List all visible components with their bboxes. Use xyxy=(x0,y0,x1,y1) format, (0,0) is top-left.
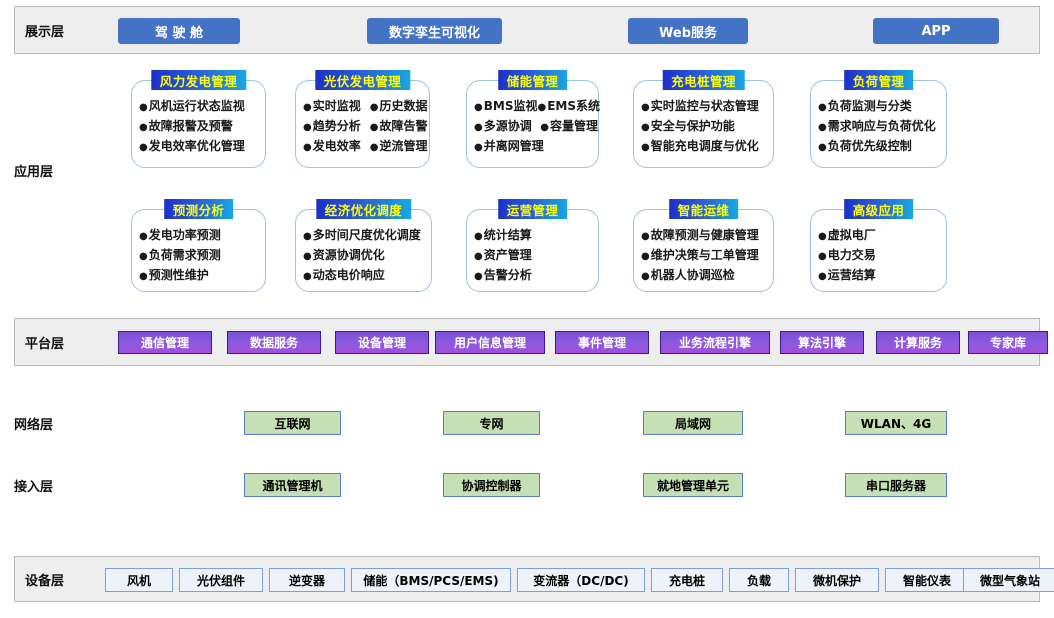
application-card-row: ●负荷需求预测 xyxy=(139,246,265,266)
bullet-item: ●资产管理 xyxy=(474,246,532,266)
application-card-6[interactable]: 预测分析●发电功率预测●负荷需求预测●预测性维护 xyxy=(131,209,266,292)
application-card-title: 高级应用 xyxy=(844,199,914,219)
bullet-label: 统计结算 xyxy=(484,226,532,245)
application-card-body: ●BMS监视●EMS系统●多源协调●容量管理●并离网管理 xyxy=(467,81,598,157)
bullet-label: 机器人协调巡检 xyxy=(651,266,735,285)
bullet-item: ●多源协调 xyxy=(474,117,532,137)
application-card-title: 预测分析 xyxy=(164,199,234,219)
device-button-9[interactable]: 智能仪表 xyxy=(885,568,969,592)
application-card-row: ●统计结算 xyxy=(474,226,598,246)
platform-button-7[interactable]: 算法引擎 xyxy=(780,331,864,354)
bullet-dot-icon: ● xyxy=(370,118,379,137)
bullet-item: ●维护决策与工单管理 xyxy=(641,246,759,266)
bullet-dot-icon: ● xyxy=(641,138,650,157)
application-card-row: ●负荷监测与分类 xyxy=(818,97,946,117)
bullet-spacer xyxy=(532,117,541,137)
application-card-2[interactable]: 光伏发电管理●实时监视●历史数据●趋势分析●故障告警●发电效率●逆流管理 xyxy=(295,80,430,168)
application-card-row: ●运营结算 xyxy=(818,266,946,286)
bullet-spacer xyxy=(361,137,370,157)
application-card-body: ●风机运行状态监视●故障报警及预警●发电效率优化管理 xyxy=(132,81,265,157)
bullet-dot-icon: ● xyxy=(641,247,650,266)
platform-button-5[interactable]: 事件管理 xyxy=(555,331,649,354)
application-card-row: ●实时监视●历史数据 xyxy=(303,97,429,117)
bullet-label: 告警分析 xyxy=(484,266,532,285)
bullet-item: ●预测性维护 xyxy=(139,266,209,286)
bullet-item: ●逆流管理 xyxy=(370,137,428,157)
access-button-2[interactable]: 协调控制器 xyxy=(443,473,540,497)
platform-button-4[interactable]: 用户信息管理 xyxy=(435,331,545,354)
network-layer-label: 网络层 xyxy=(14,414,53,433)
bullet-label: 安全与保护功能 xyxy=(651,117,735,136)
platform-layer-label: 平台层 xyxy=(25,333,64,352)
application-card-row: ●发电效率优化管理 xyxy=(139,137,265,157)
bullet-item: ●运营结算 xyxy=(818,266,876,286)
device-layer-band: 设备层 风机光伏组件逆变器储能（BMS/PCS/EMS)变流器（DC/DC)充电… xyxy=(14,556,1040,602)
bullet-item: ●需求响应与负荷优化 xyxy=(818,117,936,137)
bullet-dot-icon: ● xyxy=(303,98,312,117)
network-button-4[interactable]: WLAN、4G xyxy=(845,411,947,435)
platform-button-6[interactable]: 业务流程引擎 xyxy=(660,331,770,354)
bullet-item: ●实时监视 xyxy=(303,97,361,117)
bullet-dot-icon: ● xyxy=(537,98,546,117)
application-card-body: ●统计结算●资产管理●告警分析 xyxy=(467,210,598,286)
application-card-1[interactable]: 风力发电管理●风机运行状态监视●故障报警及预警●发电效率优化管理 xyxy=(131,80,266,168)
presentation-layer-label: 展示层 xyxy=(25,21,64,40)
presentation-button-3[interactable]: Web服务 xyxy=(628,18,748,44)
application-card-body: ●虚拟电厂●电力交易●运营结算 xyxy=(811,210,946,286)
bullet-label: 运营结算 xyxy=(828,266,876,285)
bullet-item: ●故障预测与健康管理 xyxy=(641,226,759,246)
bullet-item: ●EMS系统 xyxy=(537,97,600,117)
bullet-label: 虚拟电厂 xyxy=(828,226,876,245)
bullet-label: 智能充电调度与优化 xyxy=(651,137,759,156)
access-button-4[interactable]: 串口服务器 xyxy=(845,473,947,497)
access-layer-label: 接入层 xyxy=(14,476,53,495)
presentation-button-1[interactable]: 驾 驶 舱 xyxy=(118,18,240,44)
bullet-item: ●故障报警及预警 xyxy=(139,117,233,137)
bullet-label: 发电效率 xyxy=(313,137,361,156)
application-card-row: ●风机运行状态监视 xyxy=(139,97,265,117)
application-card-title: 光伏发电管理 xyxy=(315,70,410,90)
bullet-item: ●电力交易 xyxy=(818,246,876,266)
device-button-1[interactable]: 风机 xyxy=(105,568,173,592)
bullet-item: ●发电效率优化管理 xyxy=(139,137,245,157)
bullet-label: 并离网管理 xyxy=(484,137,544,156)
application-card-row: ●实时监控与状态管理 xyxy=(641,97,773,117)
bullet-dot-icon: ● xyxy=(139,267,148,286)
presentation-button-4[interactable]: APP xyxy=(873,18,999,44)
bullet-label: 负荷监测与分类 xyxy=(828,97,912,116)
application-card-title: 储能管理 xyxy=(498,70,568,90)
application-card-body: ●故障预测与健康管理●维护决策与工单管理●机器人协调巡检 xyxy=(634,210,773,286)
application-card-row: ●多源协调●容量管理 xyxy=(474,117,598,137)
application-card-row: ●故障报警及预警 xyxy=(139,117,265,137)
application-card-7[interactable]: 经济优化调度●多时间尺度优化调度●资源协调优化●动态电价响应 xyxy=(295,209,432,292)
device-button-3[interactable]: 逆变器 xyxy=(269,568,345,592)
bullet-dot-icon: ● xyxy=(818,98,827,117)
application-card-title: 经济优化调度 xyxy=(316,199,411,219)
device-button-7[interactable]: 负载 xyxy=(729,568,789,592)
bullet-dot-icon: ● xyxy=(139,247,148,266)
bullet-label: 负荷优先级控制 xyxy=(828,137,912,156)
bullet-item: ●机器人协调巡检 xyxy=(641,266,735,286)
application-card-title: 负荷管理 xyxy=(844,70,914,90)
bullet-item: ●风机运行状态监视 xyxy=(139,97,245,117)
bullet-dot-icon: ● xyxy=(641,98,650,117)
bullet-dot-icon: ● xyxy=(370,98,379,117)
application-card-row: ●发电效率●逆流管理 xyxy=(303,137,429,157)
bullet-dot-icon: ● xyxy=(474,118,483,137)
bullet-label: 资产管理 xyxy=(484,246,532,265)
bullet-label: 趋势分析 xyxy=(313,117,361,136)
application-card-body: ●实时监视●历史数据●趋势分析●故障告警●发电效率●逆流管理 xyxy=(296,81,429,157)
bullet-label: BMS监视 xyxy=(484,97,538,116)
device-button-4[interactable]: 储能（BMS/PCS/EMS) xyxy=(351,568,511,592)
bullet-dot-icon: ● xyxy=(303,227,312,246)
bullet-dot-icon: ● xyxy=(139,98,148,117)
platform-button-3[interactable]: 设备管理 xyxy=(335,331,429,354)
bullet-item: ●统计结算 xyxy=(474,226,532,246)
bullet-label: 实时监控与状态管理 xyxy=(651,97,759,116)
bullet-label: 容量管理 xyxy=(550,117,598,136)
application-card-row: ●智能充电调度与优化 xyxy=(641,137,773,157)
bullet-item: ●虚拟电厂 xyxy=(818,226,876,246)
platform-layer-band: 平台层 通信管理数据服务设备管理用户信息管理事件管理业务流程引擎算法引擎计算服务… xyxy=(14,318,1040,366)
bullet-label: 故障报警及预警 xyxy=(149,117,233,136)
platform-button-8[interactable]: 计算服务 xyxy=(876,331,960,354)
bullet-dot-icon: ● xyxy=(818,227,827,246)
bullet-spacer xyxy=(361,117,370,137)
bullet-item: ●实时监控与状态管理 xyxy=(641,97,759,117)
application-card-title: 运营管理 xyxy=(498,199,568,219)
application-card-body: ●负荷监测与分类●需求响应与负荷优化●负荷优先级控制 xyxy=(811,81,946,157)
bullet-dot-icon: ● xyxy=(641,118,650,137)
bullet-dot-icon: ● xyxy=(540,118,549,137)
application-card-10[interactable]: 高级应用●虚拟电厂●电力交易●运营结算 xyxy=(810,209,947,292)
bullet-item: ●告警分析 xyxy=(474,266,532,286)
application-card-row: ●多时间尺度优化调度 xyxy=(303,226,431,246)
application-card-row: ●安全与保护功能 xyxy=(641,117,773,137)
platform-button-9[interactable]: 专家库 xyxy=(968,331,1048,354)
bullet-label: 资源协调优化 xyxy=(313,246,385,265)
bullet-item: ●历史数据 xyxy=(370,97,428,117)
application-card-row: ●资产管理 xyxy=(474,246,598,266)
access-button-3[interactable]: 就地管理单元 xyxy=(643,473,743,497)
application-card-row: ●并离网管理 xyxy=(474,137,598,157)
application-card-3[interactable]: 储能管理●BMS监视●EMS系统●多源协调●容量管理●并离网管理 xyxy=(466,80,599,168)
application-card-row: ●资源协调优化 xyxy=(303,246,431,266)
bullet-dot-icon: ● xyxy=(303,138,312,157)
application-card-row: ●动态电价响应 xyxy=(303,266,431,286)
bullet-label: 风机运行状态监视 xyxy=(149,97,245,116)
application-card-8[interactable]: 运营管理●统计结算●资产管理●告警分析 xyxy=(466,209,599,292)
bullet-item: ●BMS监视 xyxy=(474,97,537,117)
application-card-row: ●机器人协调巡检 xyxy=(641,266,773,286)
bullet-dot-icon: ● xyxy=(474,227,483,246)
bullet-label: 故障告警 xyxy=(379,117,427,136)
bullet-dot-icon: ● xyxy=(474,98,483,117)
access-button-1[interactable]: 通讯管理机 xyxy=(244,473,341,497)
bullet-item: ●负荷需求预测 xyxy=(139,246,221,266)
bullet-dot-icon: ● xyxy=(370,138,379,157)
application-card-title: 充电桩管理 xyxy=(662,70,745,90)
application-layer-label: 应用层 xyxy=(14,161,53,180)
bullet-label: 逆流管理 xyxy=(379,137,427,156)
application-card-row: ●发电功率预测 xyxy=(139,226,265,246)
bullet-label: 多时间尺度优化调度 xyxy=(313,226,421,245)
bullet-item: ●负荷优先级控制 xyxy=(818,137,912,157)
bullet-label: 故障预测与健康管理 xyxy=(651,226,759,245)
bullet-label: 实时监视 xyxy=(313,97,361,116)
presentation-layer-band: 展示层 驾 驶 舱数字孪生可视化Web服务APP xyxy=(14,6,1040,54)
device-button-5[interactable]: 变流器（DC/DC) xyxy=(517,568,645,592)
presentation-button-2[interactable]: 数字孪生可视化 xyxy=(367,18,502,44)
platform-button-1[interactable]: 通信管理 xyxy=(118,331,212,354)
bullet-dot-icon: ● xyxy=(139,138,148,157)
bullet-item: ●动态电价响应 xyxy=(303,266,385,286)
network-button-3[interactable]: 局域网 xyxy=(643,411,743,435)
bullet-dot-icon: ● xyxy=(474,138,483,157)
application-card-title: 风力发电管理 xyxy=(151,70,246,90)
bullet-dot-icon: ● xyxy=(641,227,650,246)
device-button-6[interactable]: 充电桩 xyxy=(651,568,723,592)
device-button-10[interactable]: 微型气象站 xyxy=(963,568,1054,592)
application-card-row: ●虚拟电厂 xyxy=(818,226,946,246)
application-card-9[interactable]: 智能运维●故障预测与健康管理●维护决策与工单管理●机器人协调巡检 xyxy=(633,209,774,292)
application-card-row: ●电力交易 xyxy=(818,246,946,266)
bullet-item: ●负荷监测与分类 xyxy=(818,97,912,117)
application-card-body: ●多时间尺度优化调度●资源协调优化●动态电价响应 xyxy=(296,210,431,286)
network-button-1[interactable]: 互联网 xyxy=(244,411,341,435)
bullet-label: 电力交易 xyxy=(828,246,876,265)
application-card-title: 智能运维 xyxy=(669,199,739,219)
application-card-row: ●告警分析 xyxy=(474,266,598,286)
bullet-item: ●发电功率预测 xyxy=(139,226,221,246)
bullet-dot-icon: ● xyxy=(303,118,312,137)
bullet-label: 需求响应与负荷优化 xyxy=(828,117,936,136)
device-button-8[interactable]: 微机保护 xyxy=(795,568,879,592)
application-card-5[interactable]: 负荷管理●负荷监测与分类●需求响应与负荷优化●负荷优先级控制 xyxy=(810,80,947,168)
bullet-spacer xyxy=(361,97,370,117)
bullet-label: 维护决策与工单管理 xyxy=(651,246,759,265)
bullet-dot-icon: ● xyxy=(303,267,312,286)
bullet-dot-icon: ● xyxy=(474,247,483,266)
bullet-dot-icon: ● xyxy=(474,267,483,286)
application-card-4[interactable]: 充电桩管理●实时监控与状态管理●安全与保护功能●智能充电调度与优化 xyxy=(633,80,774,168)
application-card-row: ●维护决策与工单管理 xyxy=(641,246,773,266)
bullet-dot-icon: ● xyxy=(818,138,827,157)
bullet-dot-icon: ● xyxy=(139,227,148,246)
bullet-item: ●安全与保护功能 xyxy=(641,117,735,137)
bullet-label: EMS系统 xyxy=(547,97,600,116)
bullet-dot-icon: ● xyxy=(818,267,827,286)
bullet-item: ●发电效率 xyxy=(303,137,361,157)
bullet-dot-icon: ● xyxy=(641,267,650,286)
bullet-item: ●智能充电调度与优化 xyxy=(641,137,759,157)
bullet-label: 发电效率优化管理 xyxy=(149,137,245,156)
network-button-2[interactable]: 专网 xyxy=(443,411,540,435)
bullet-dot-icon: ● xyxy=(139,118,148,137)
bullet-dot-icon: ● xyxy=(303,247,312,266)
bullet-label: 历史数据 xyxy=(379,97,427,116)
application-card-row: ●需求响应与负荷优化 xyxy=(818,117,946,137)
bullet-item: ●资源协调优化 xyxy=(303,246,385,266)
bullet-label: 发电功率预测 xyxy=(149,226,221,245)
bullet-label: 动态电价响应 xyxy=(313,266,385,285)
application-card-row: ●BMS监视●EMS系统 xyxy=(474,97,598,117)
platform-button-2[interactable]: 数据服务 xyxy=(227,331,321,354)
device-layer-label: 设备层 xyxy=(25,570,64,589)
bullet-label: 预测性维护 xyxy=(149,266,209,285)
application-card-body: ●实时监控与状态管理●安全与保护功能●智能充电调度与优化 xyxy=(634,81,773,157)
bullet-item: ●并离网管理 xyxy=(474,137,544,157)
application-card-row: ●预测性维护 xyxy=(139,266,265,286)
application-card-row: ●故障预测与健康管理 xyxy=(641,226,773,246)
bullet-dot-icon: ● xyxy=(818,247,827,266)
bullet-item: ●故障告警 xyxy=(370,117,428,137)
device-button-2[interactable]: 光伏组件 xyxy=(179,568,263,592)
bullet-label: 负荷需求预测 xyxy=(149,246,221,265)
application-card-row: ●趋势分析●故障告警 xyxy=(303,117,429,137)
bullet-label: 多源协调 xyxy=(484,117,532,136)
application-card-body: ●发电功率预测●负荷需求预测●预测性维护 xyxy=(132,210,265,286)
bullet-dot-icon: ● xyxy=(818,118,827,137)
architecture-diagram: 展示层 驾 驶 舱数字孪生可视化Web服务APP 应用层 平台层 通信管理数据服… xyxy=(0,0,1054,618)
bullet-item: ●容量管理 xyxy=(540,117,598,137)
bullet-item: ●多时间尺度优化调度 xyxy=(303,226,421,246)
bullet-item: ●趋势分析 xyxy=(303,117,361,137)
application-card-row: ●负荷优先级控制 xyxy=(818,137,946,157)
